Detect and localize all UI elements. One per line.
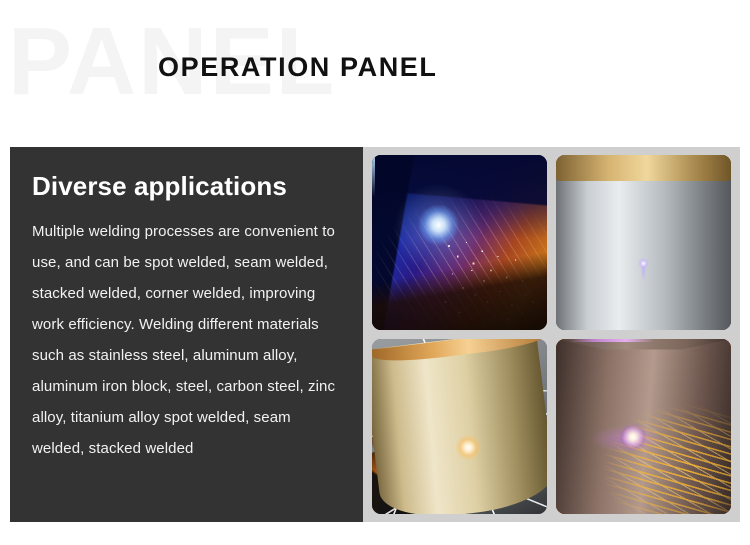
gallery-photo-welding-sparks-blue-orange[interactable]: [372, 155, 547, 330]
feature-description: Multiple welding processes are convenien…: [32, 216, 341, 464]
page-title: OPERATION PANEL: [158, 52, 438, 83]
page-header: PANEL OPERATION PANEL: [0, 0, 750, 145]
photo-gallery: [363, 147, 740, 522]
cutting-arc-flame: [556, 155, 731, 330]
plasma-arc-glow: [556, 339, 731, 514]
gallery-photo-laser-cut-plate-scribe-lines[interactable]: [372, 339, 547, 514]
gallery-photo-plasma-cutting-orange-gantry[interactable]: [556, 339, 731, 514]
feature-text-panel: Diverse applications Multiple welding pr…: [10, 147, 363, 522]
weld-arc-glow: [372, 339, 547, 514]
feature-heading: Diverse applications: [32, 171, 341, 202]
workpiece-plate: [372, 155, 547, 330]
gallery-photo-laser-cutting-steel-plate[interactable]: [556, 155, 731, 330]
